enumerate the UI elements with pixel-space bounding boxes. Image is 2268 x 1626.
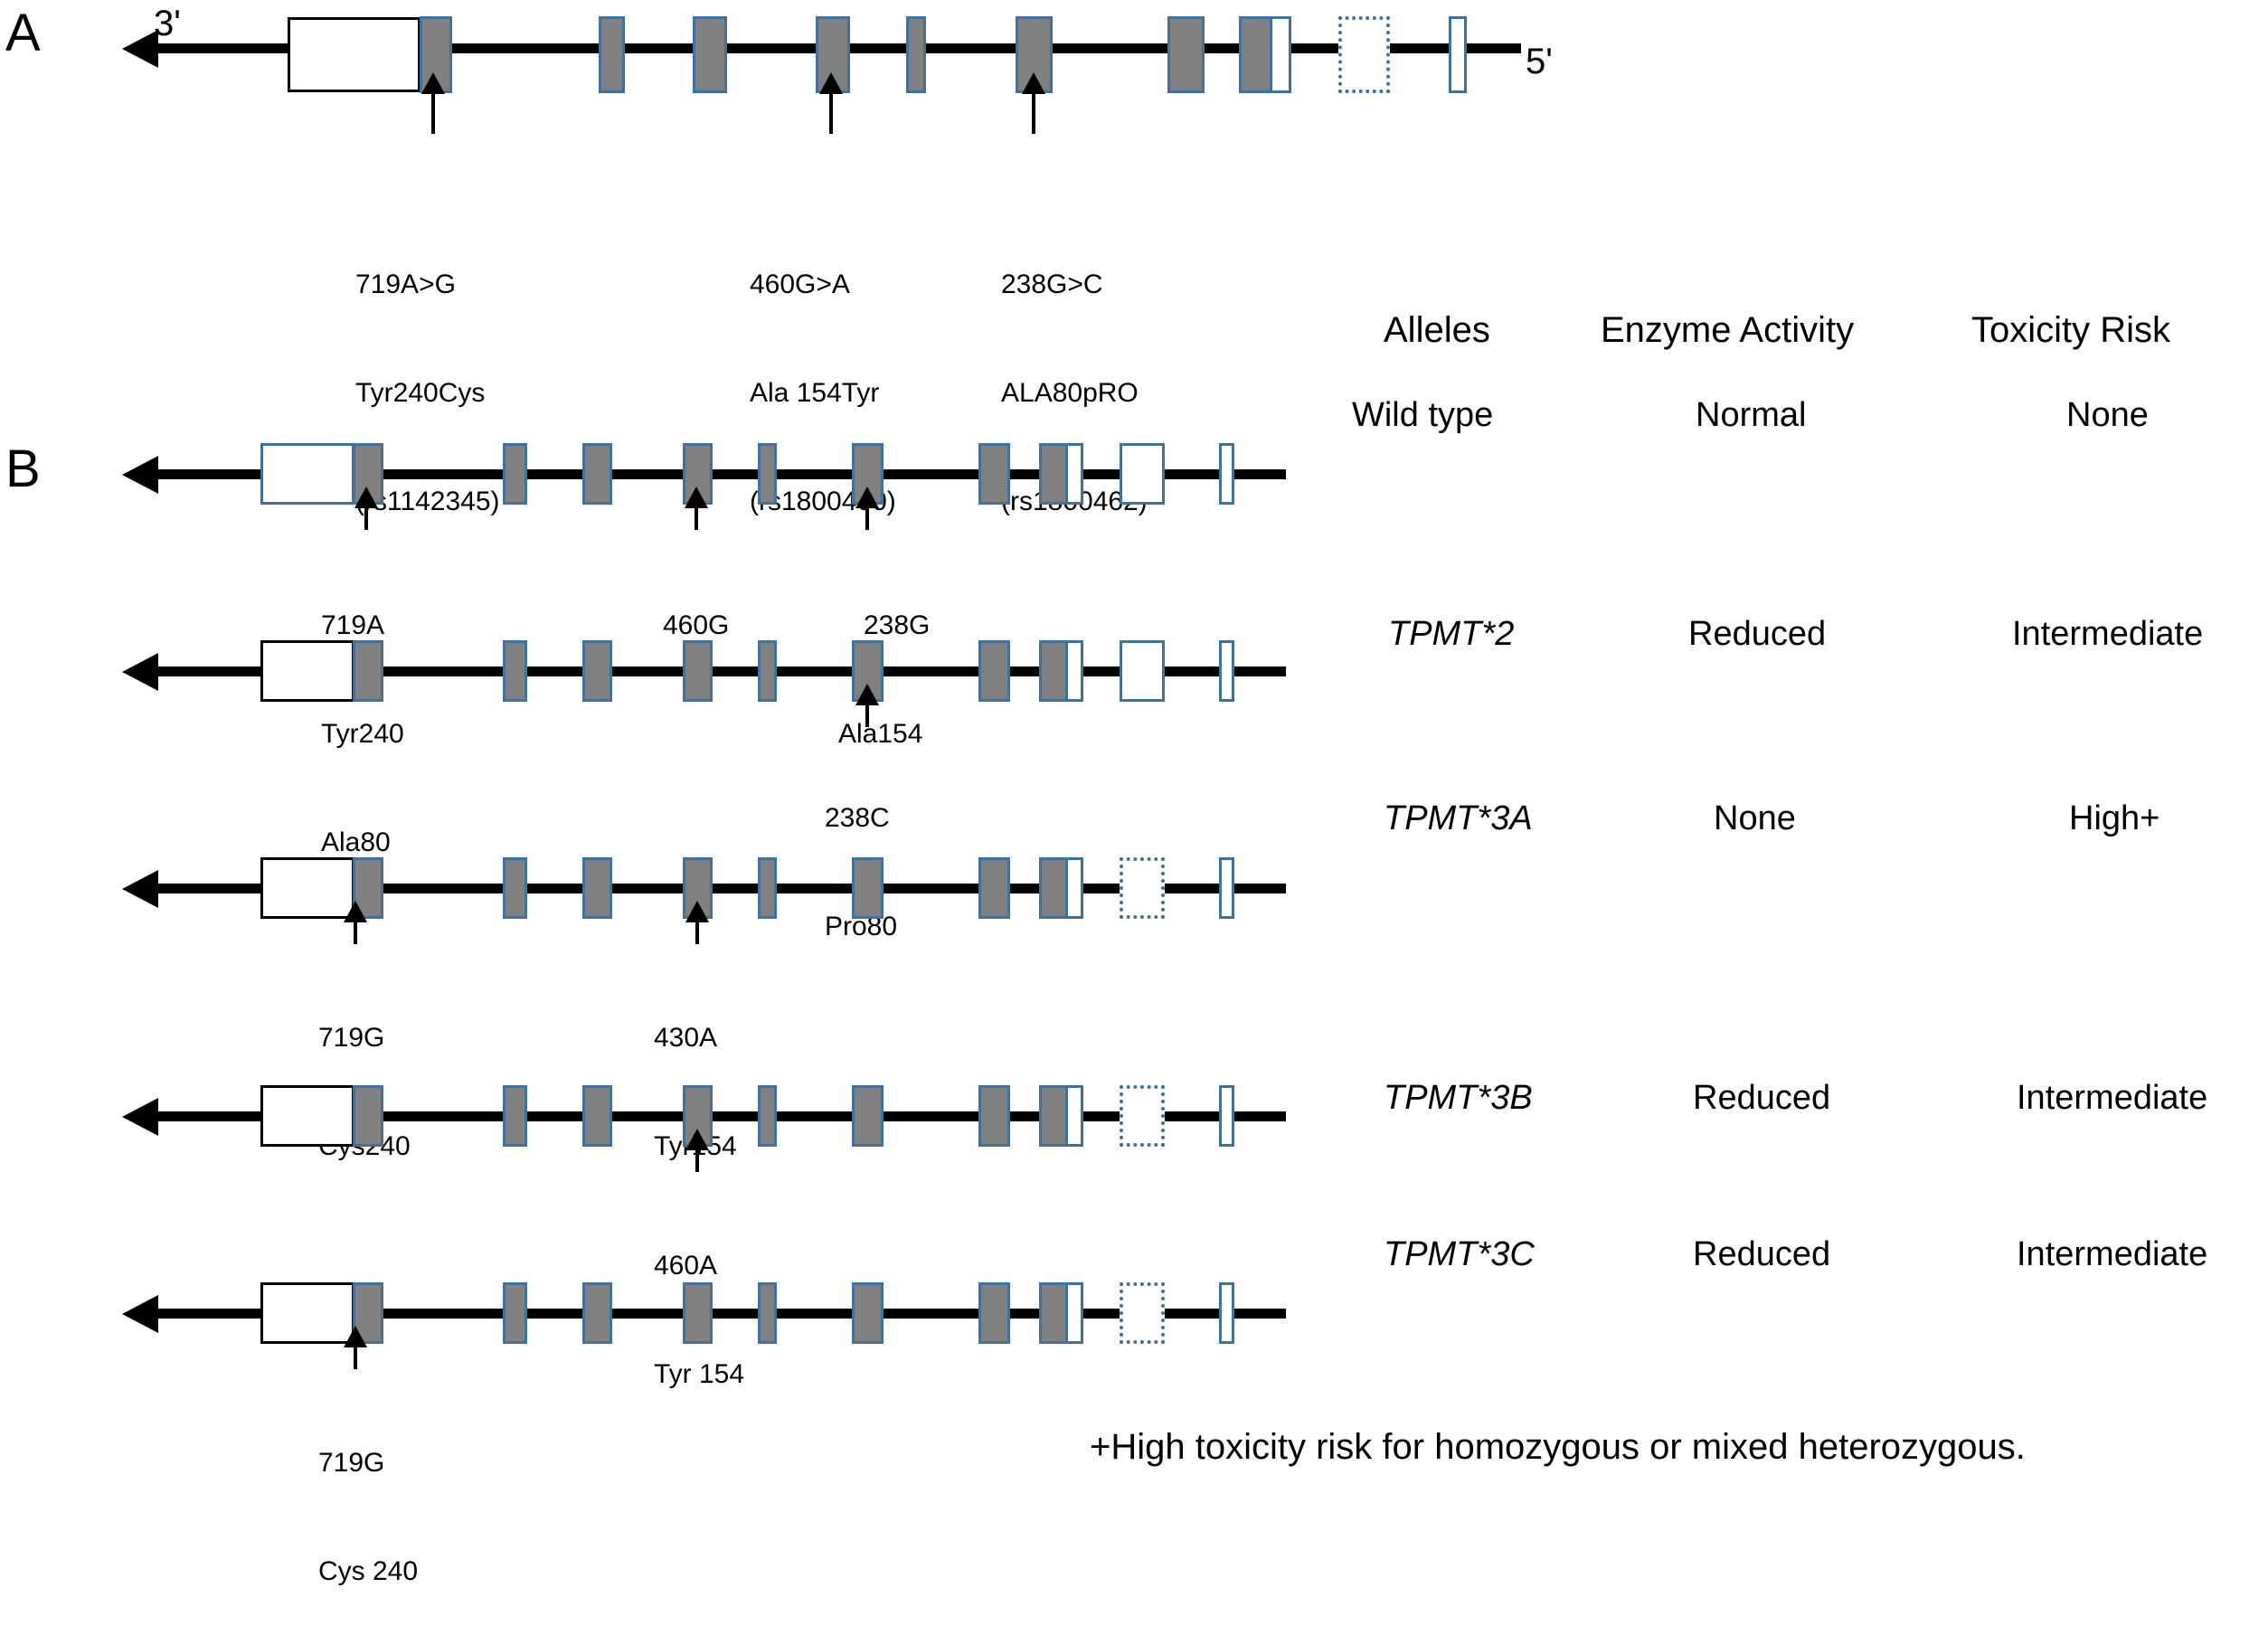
exon-11: [1219, 857, 1234, 919]
transcription-arrow-head: [122, 1098, 158, 1136]
exon-utr-box: [260, 443, 354, 505]
exon-11: [1219, 1085, 1234, 1147]
table-row-activity: Reduced: [1688, 617, 1826, 651]
exon-2: [599, 16, 625, 93]
exon-3: [582, 1085, 612, 1147]
variant-label-719-line-1: 719A>G: [355, 267, 500, 303]
label-t2-238-line-1: 238C: [825, 800, 897, 837]
exon-3: [582, 857, 612, 919]
exon-11: [1219, 640, 1234, 702]
table-footnote: +High toxicity risk for homozygous or mi…: [1090, 1429, 2026, 1465]
exon-utr-box: [288, 17, 421, 92]
exon-10-dotted: [1120, 1085, 1165, 1147]
exon-10-dotted: [1120, 857, 1165, 919]
table-row-allele: Wild type: [1352, 398, 1493, 432]
table-header-enzyme-activity: Enzyme Activity: [1601, 312, 1854, 348]
label-t3a-430-line-1: 430A: [654, 1020, 737, 1056]
table-row-risk: Intermediate: [2017, 1081, 2207, 1115]
exon-6: [852, 1085, 884, 1147]
table-row-activity: Reduced: [1693, 1081, 1830, 1115]
transcription-arrow-head: [122, 870, 158, 908]
label-t3b-460-line-2: Tyr 154: [654, 1357, 744, 1393]
exon-10: [1120, 640, 1165, 702]
variant-label-719-line-2: Tyr240Cys: [355, 375, 500, 411]
exon-9: [1065, 640, 1083, 702]
exon-11: [1219, 443, 1234, 505]
table-row-risk: High+: [2069, 801, 2159, 836]
transcription-arrow-head: [122, 653, 158, 691]
exon-10-dotted: [1338, 16, 1390, 93]
table-row-allele: TPMT*3A: [1384, 801, 1533, 836]
exon-5: [758, 443, 777, 505]
label-t3c-719: 719G Cys 240: [318, 1373, 418, 1626]
exon-6: [852, 1282, 884, 1344]
exon-9: [1065, 1085, 1083, 1147]
exon-5: [758, 640, 777, 702]
exon-4: [683, 640, 713, 702]
table-header-toxicity-risk: Toxicity Risk: [1971, 312, 2170, 348]
panel-b-row-tpmt2: [0, 631, 1311, 713]
exon-7: [978, 857, 1010, 919]
label-wt-719-line-2: Tyr240: [321, 716, 404, 752]
exon-6: [852, 857, 884, 919]
exon-3: [582, 640, 612, 702]
exon-9: [1065, 857, 1083, 919]
exon-8: [1239, 16, 1273, 93]
exon-7: [978, 443, 1010, 505]
table-row-activity: Reduced: [1693, 1237, 1830, 1271]
label-t3a-719-line-1: 719G: [318, 1020, 411, 1056]
exon-3: [693, 16, 727, 93]
table-row-allele: TPMT*2: [1388, 617, 1514, 651]
exon-utr-box: [260, 857, 354, 919]
panel-b-row-tpmt3a: [0, 848, 1311, 930]
exon-9: [1270, 16, 1291, 93]
label-t3c-719-line-2: Cys 240: [318, 1554, 418, 1590]
exon-2: [503, 443, 527, 505]
exon-7: [978, 1085, 1010, 1147]
exon-7: [978, 640, 1010, 702]
exon-1: [353, 1085, 383, 1147]
transcription-arrow-head: [122, 456, 158, 494]
exon-2: [503, 640, 527, 702]
exon-7: [978, 1282, 1010, 1344]
exon-3: [582, 1282, 612, 1344]
transcription-arrow-head: [122, 1295, 158, 1333]
table-row-activity: None: [1714, 801, 1796, 836]
exon-3: [582, 443, 612, 505]
exon-2: [503, 1085, 527, 1147]
exon-5: [758, 1282, 777, 1344]
exon-utr-box: [260, 1282, 354, 1344]
exon-utr-box: [260, 640, 354, 702]
five-prime-label: 5': [1526, 43, 1553, 80]
label-t3c-719-line-1: 719G: [318, 1445, 418, 1481]
table-row-allele: TPMT*3B: [1384, 1081, 1533, 1115]
variant-label-238-line-1: 238G>C: [1001, 267, 1148, 303]
panel-b-row-tpmt3c: [0, 1273, 1311, 1355]
exon-5: [758, 1085, 777, 1147]
transcription-arrow-head: [122, 30, 158, 68]
exon-2: [503, 1282, 527, 1344]
label-wt-719: 719A Tyr240 Ala80: [321, 535, 404, 897]
exon-11: [1219, 1282, 1234, 1344]
table-row-allele: TPMT*3C: [1384, 1237, 1535, 1271]
exon-7: [1167, 16, 1205, 93]
table-row-risk: Intermediate: [2017, 1237, 2207, 1271]
table-row-risk: Intermediate: [2012, 617, 2203, 651]
panel-a-gene-diagram: 3' 5': [0, 0, 1628, 127]
label-t3a-719: 719G Cys240: [318, 948, 411, 1201]
variant-label-238-line-2: ALA80pRO: [1001, 375, 1148, 411]
exon-11: [1449, 16, 1467, 93]
variant-label-460-line-1: 460G>A: [750, 267, 896, 303]
exon-5: [906, 16, 926, 93]
panel-b-row-tpmt3b: [0, 1076, 1311, 1158]
exon-9: [1065, 1282, 1083, 1344]
table-header-alleles: Alleles: [1384, 312, 1490, 348]
exon-5: [758, 857, 777, 919]
exon-10: [1120, 443, 1165, 505]
exon-1: [353, 640, 383, 702]
table-row-activity: Normal: [1696, 398, 1806, 432]
panel-b-row-wild-type: [0, 434, 1311, 515]
exon-10-dotted: [1120, 1282, 1165, 1344]
variant-label-460-line-2: Ala 154Tyr: [750, 375, 896, 411]
table-row-risk: None: [2066, 398, 2149, 432]
exon-2: [503, 857, 527, 919]
exon-9: [1065, 443, 1083, 505]
exon-4: [683, 1282, 713, 1344]
exon-utr-box: [260, 1085, 354, 1147]
